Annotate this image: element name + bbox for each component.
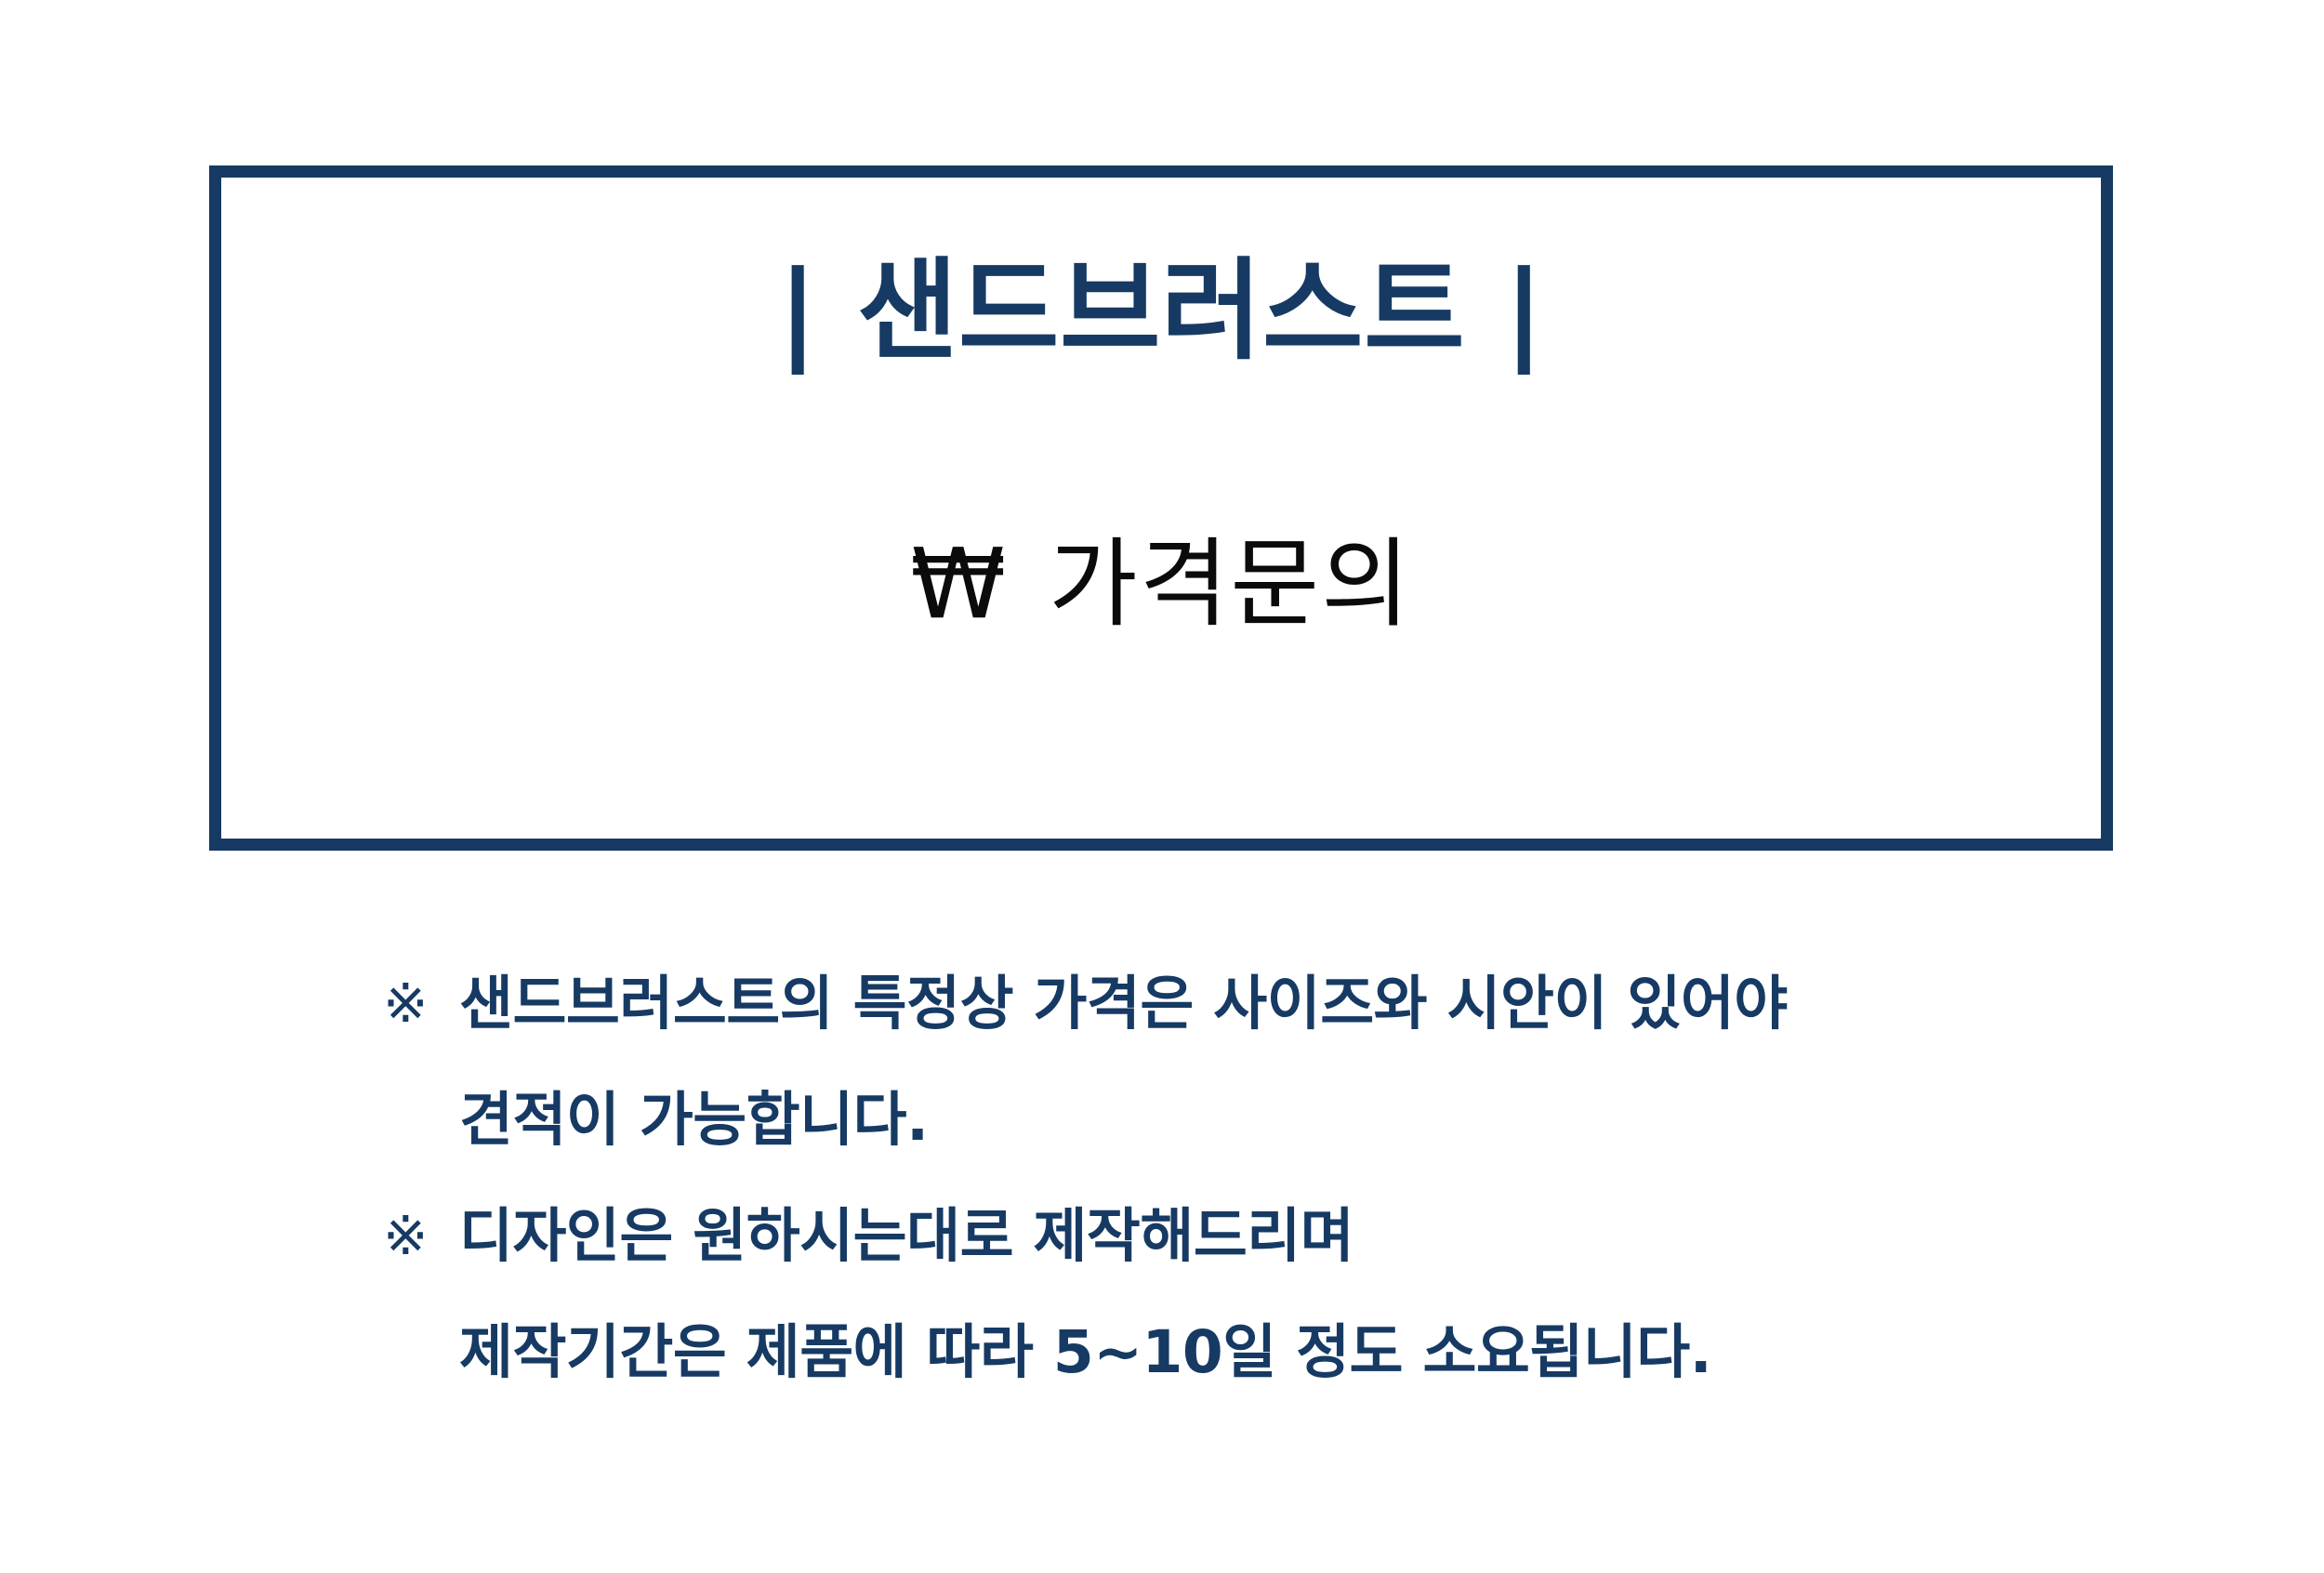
page-canvas: | 샌드브러스트 | ₩가격문의 ※ 샌드브러스트의 특정상 가격은 사이즈와 …: [0, 0, 2324, 1573]
note-line: ※ 디자인은 원하시는대로 제작해드리며: [383, 1207, 2149, 1323]
note-text: 제작기간은 제품에 따라 5~10일 정도 소요됩니다.: [459, 1323, 1711, 1381]
price-inquiry-label: 가격문의: [1049, 527, 1412, 641]
note-text: 견적이 가능합니다.: [459, 1091, 929, 1149]
page-title: | 샌드브러스트 |: [221, 248, 2101, 375]
notes-list: ※ 샌드브러스트의 특정상 가격은 사이즈와 시안이 있어야 견적이 가능합니다…: [383, 974, 2149, 1439]
won-currency-icon: ₩: [910, 527, 1006, 641]
reference-mark-icon: ※: [383, 1207, 459, 1265]
note-text: 샌드브러스트의 특정상 가격은 사이즈와 시안이 있어야: [459, 974, 1788, 1033]
note-line: ※ 샌드브러스트의 특정상 가격은 사이즈와 시안이 있어야: [383, 974, 2149, 1091]
price-inquiry-heading: ₩가격문의: [221, 529, 2101, 641]
note-line: 견적이 가능합니다.: [383, 1091, 2149, 1207]
headline-box: | 샌드브러스트 | ₩가격문의: [209, 165, 2113, 851]
note-text: 디자인은 원하시는대로 제작해드리며: [459, 1207, 1353, 1265]
note-line: 제작기간은 제품에 따라 5~10일 정도 소요됩니다.: [383, 1323, 2149, 1439]
reference-mark-icon: ※: [383, 974, 459, 1033]
